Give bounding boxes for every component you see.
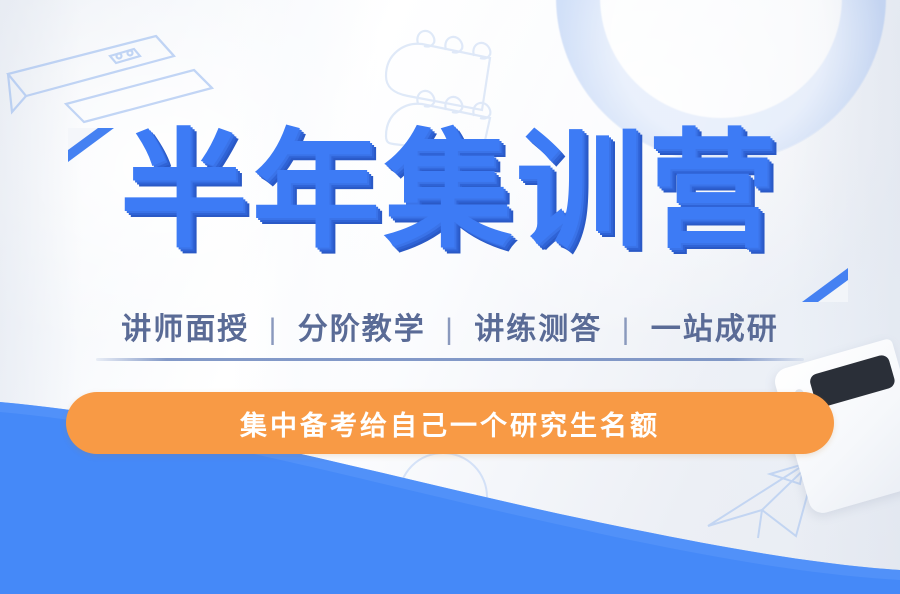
pen-line-art bbox=[6, 22, 256, 132]
triangle-accent-bottom-right bbox=[802, 268, 848, 302]
subtitle-item-4: 一站成研 bbox=[651, 313, 779, 346]
subtitle-separator-2: | bbox=[436, 313, 464, 346]
cta-button[interactable]: 集中备考给自己一个研究生名额 bbox=[66, 392, 834, 454]
headline-text: 半年集训营 bbox=[120, 128, 780, 256]
promo-banner: 半年集训营 讲师面授 | 分阶教学 | 讲练测答 | 一站成研 集中备考给自己一… bbox=[0, 0, 900, 594]
cta-button-label: 集中备考给自己一个研究生名额 bbox=[240, 404, 660, 443]
subtitle-block: 讲师面授 | 分阶教学 | 讲练测答 | 一站成研 bbox=[0, 304, 900, 348]
headline-block: 半年集训营 bbox=[0, 128, 900, 256]
subtitle-item-2: 分阶教学 bbox=[298, 313, 426, 346]
subtitle-underline-rule bbox=[96, 358, 804, 361]
subtitle-text: 讲师面授 | 分阶教学 | 讲练测答 | 一站成研 bbox=[121, 304, 778, 348]
subtitle-separator-1: | bbox=[260, 313, 288, 346]
subtitle-separator-3: | bbox=[613, 313, 641, 346]
subtitle-item-3: 讲练测答 bbox=[474, 313, 602, 346]
subtitle-item-1: 讲师面授 bbox=[121, 313, 249, 346]
